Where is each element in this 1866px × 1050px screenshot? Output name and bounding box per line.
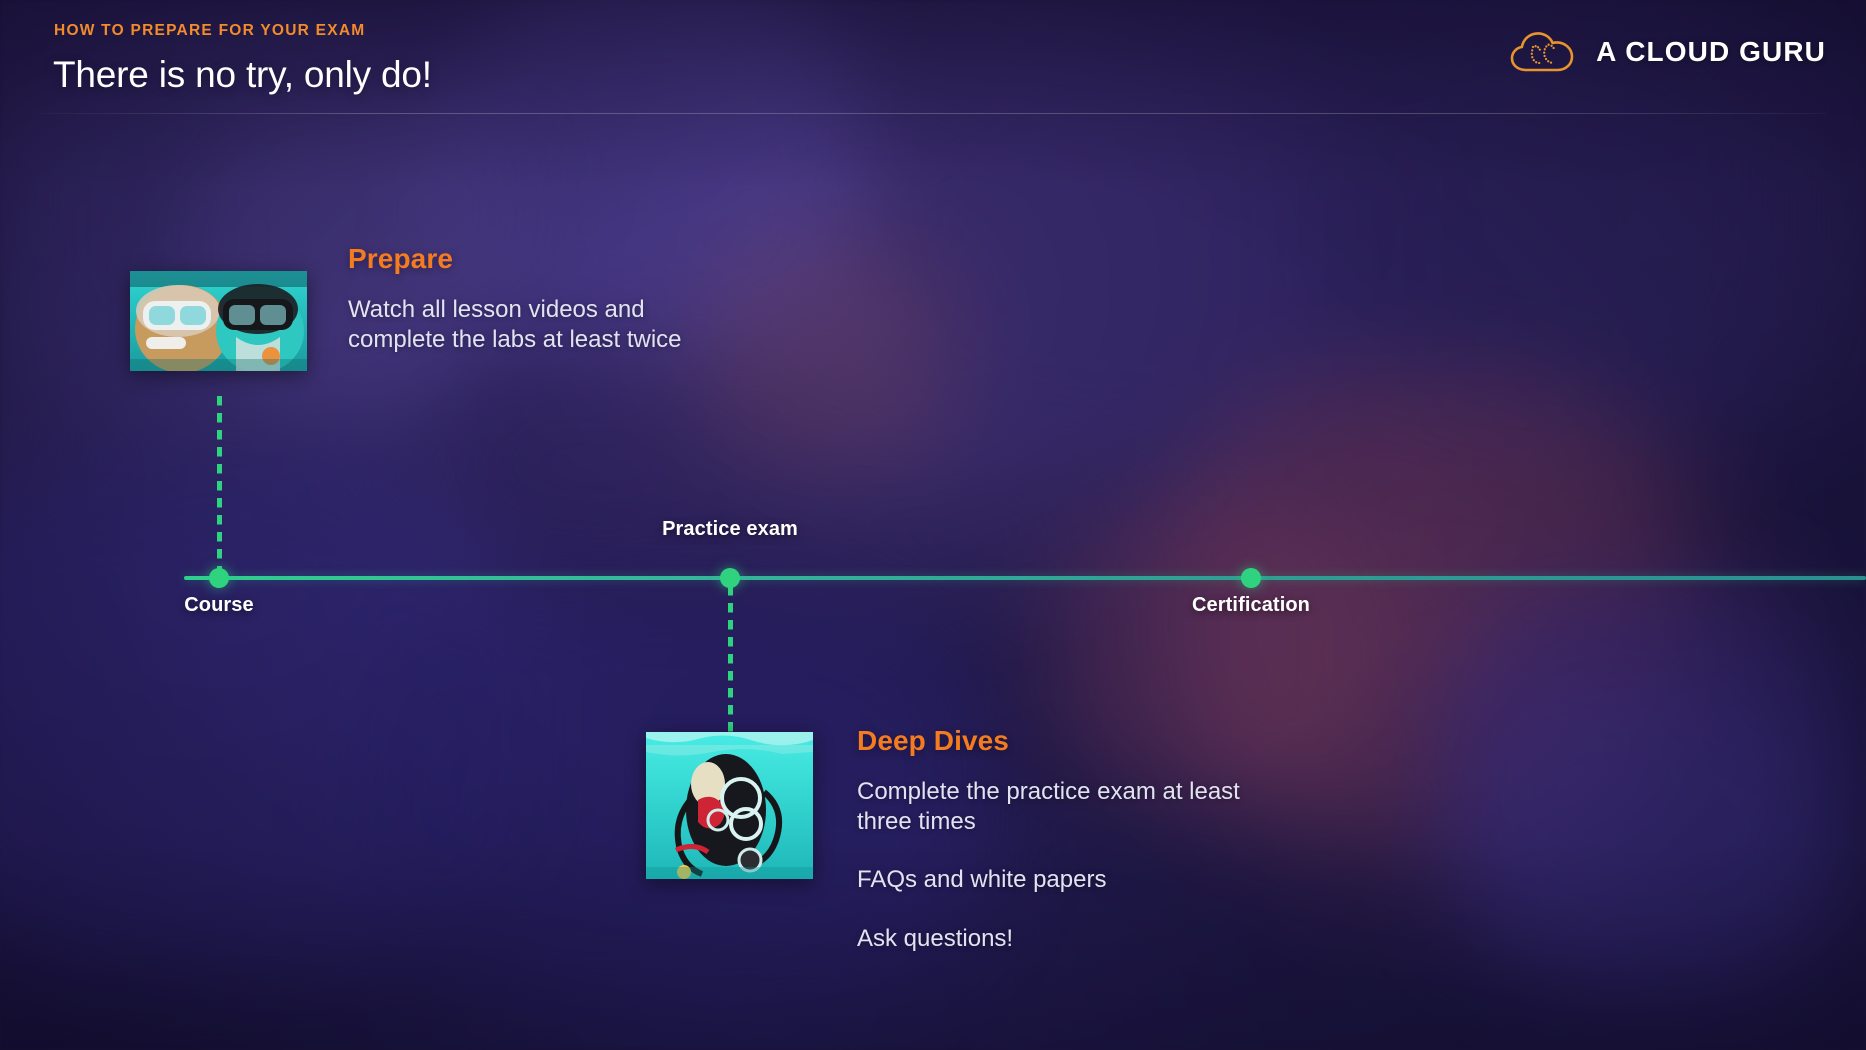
- timeline-axis: [184, 576, 1866, 580]
- timeline-node-practice-exam[interactable]: [720, 568, 740, 588]
- timeline-node-course[interactable]: [209, 568, 229, 588]
- header-divider: [40, 113, 1826, 114]
- brand-name: A CLOUD GURU: [1596, 36, 1826, 68]
- callout-deep-dives: Deep Dives Complete the practice exam at…: [857, 725, 1287, 954]
- callout-prepare-text-0: Watch all lesson videos and complete the…: [348, 295, 748, 355]
- slide-eyebrow: HOW TO PREPARE FOR YOUR EXAM: [54, 22, 365, 40]
- slide-title: There is no try, only do!: [53, 54, 432, 96]
- cloud-outline-icon: [1510, 30, 1576, 74]
- connector-practice-to-deepdives: [728, 586, 733, 734]
- timeline-node-certification[interactable]: [1241, 568, 1261, 588]
- callout-deep-dives-text-1: FAQs and white papers: [857, 865, 1287, 895]
- callout-deep-dives-text-0: Complete the practice exam at least thre…: [857, 777, 1287, 837]
- prepare-thumbnail-snorkelers: [130, 271, 307, 371]
- callout-deep-dives-text-2: Ask questions!: [857, 924, 1287, 954]
- slide-canvas: HOW TO PREPARE FOR YOUR EXAM There is no…: [0, 0, 1866, 1050]
- callout-deep-dives-title: Deep Dives: [857, 725, 1287, 757]
- brand-logo: A CLOUD GURU: [1510, 30, 1826, 74]
- timeline-label-course: Course: [184, 594, 254, 617]
- timeline-label-practice-exam: Practice exam: [662, 518, 798, 541]
- callout-prepare-title: Prepare: [348, 243, 748, 275]
- connector-course-to-prepare: [217, 396, 222, 572]
- slide-header: HOW TO PREPARE FOR YOUR EXAM There is no…: [0, 0, 1866, 114]
- deepdives-thumbnail-diver: [646, 732, 813, 879]
- callout-prepare: Prepare Watch all lesson videos and comp…: [348, 243, 748, 355]
- timeline-label-certification: Certification: [1192, 594, 1310, 617]
